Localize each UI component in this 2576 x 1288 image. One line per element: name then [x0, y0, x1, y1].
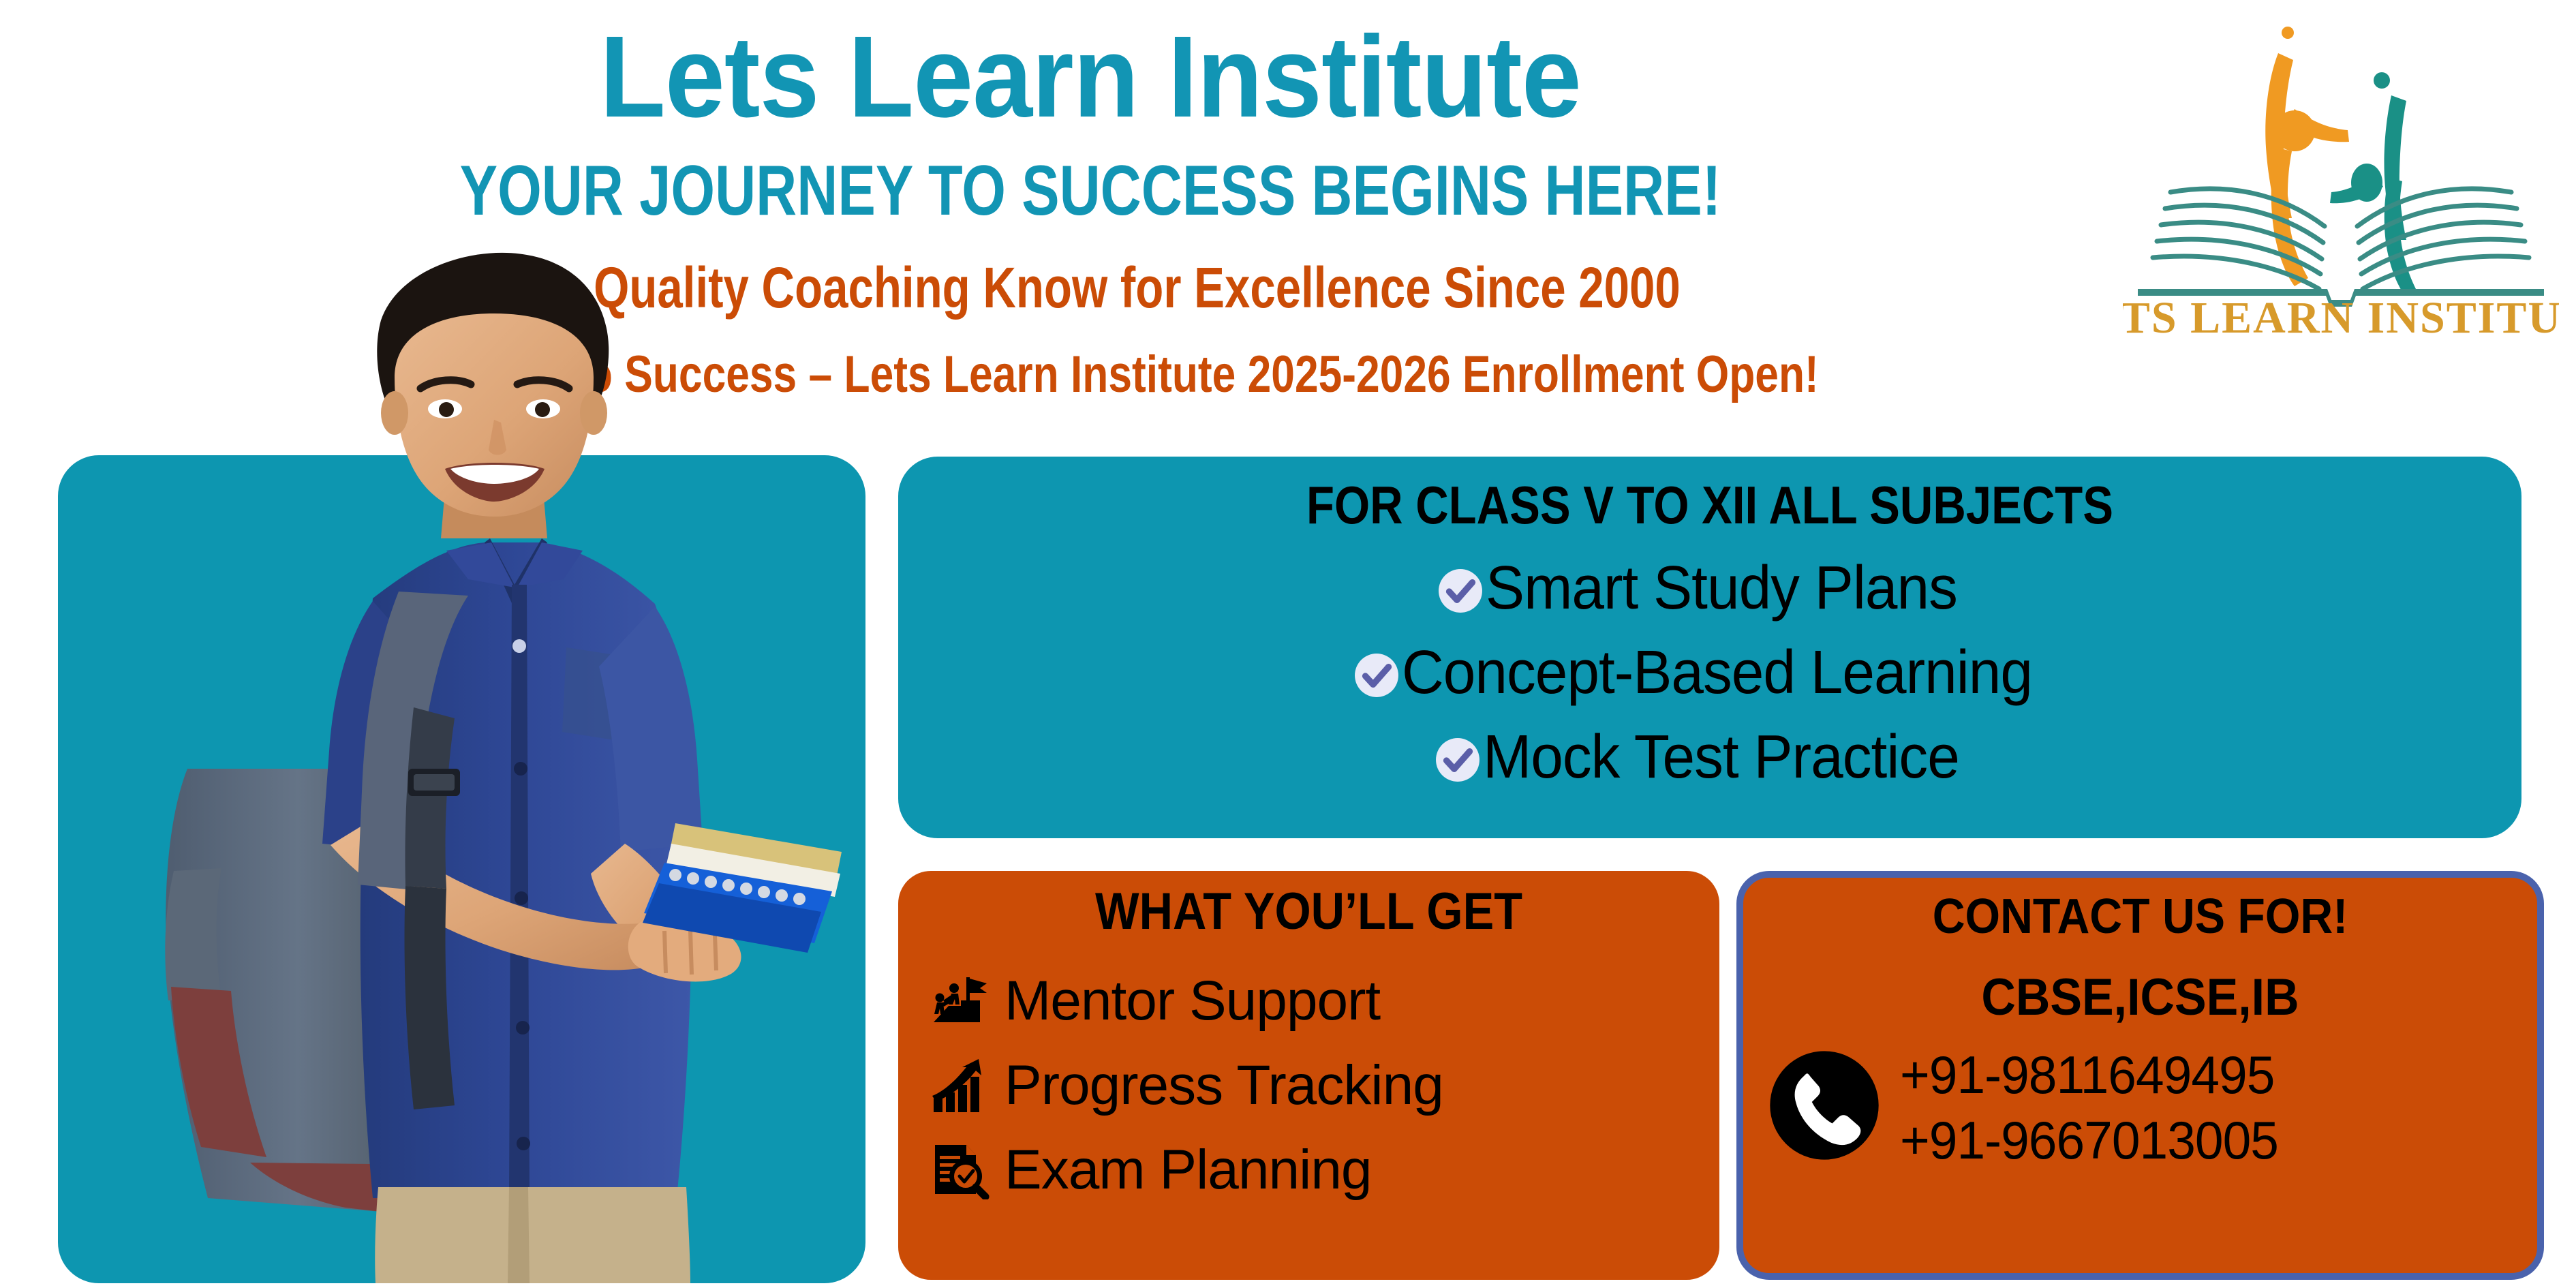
feature-item: Smart Study Plans — [898, 546, 2521, 630]
document-magnifier-check-icon — [931, 1141, 990, 1199]
feature-item-label: Smart Study Plans — [1486, 553, 1957, 624]
contact-boards-label: CBSE,ICSE,IB — [1775, 968, 2506, 1027]
benefit-item: Exam Planning — [931, 1128, 1719, 1212]
feature-box: FOR CLASS V TO XII ALL SUBJECTS Smart St… — [898, 457, 2521, 838]
logo-wordmark: LETS LEARN INSTITUTE — [2123, 293, 2559, 341]
promotional-banner: Lets Learn Institute YOUR JOURNEY TO SUC… — [0, 0, 2576, 1288]
phone-number[interactable]: +91-9811649495 — [1900, 1042, 2512, 1107]
benefits-box-title: WHAT YOU’LL GET — [939, 882, 1678, 941]
contact-box: CONTACT US FOR! CBSE,ICSE,IB +91-9811649… — [1736, 871, 2544, 1280]
feature-item-label: Concept-Based Learning — [1402, 638, 2032, 708]
student-photo — [106, 230, 876, 1283]
institute-logo: LETS LEARN INSTITUTE — [2123, 14, 2559, 341]
feature-list: Smart Study Plans Concept-Based Learning — [898, 546, 2521, 799]
benefit-item-label: Mentor Support — [1005, 969, 1380, 1033]
feature-item-label: Mock Test Practice — [1483, 722, 1959, 793]
mentor-climbing-to-flag-icon — [931, 972, 990, 1030]
benefit-item: Progress Tracking — [931, 1043, 1719, 1128]
tagline-journey: YOUR JOURNEY TO SUCCESS BEGINS HERE! — [447, 155, 1734, 226]
check-circle-icon — [1435, 737, 1480, 782]
contact-phone-rows: +91-9811649495 +91-9667013005 — [1743, 1042, 2537, 1173]
feature-box-title: FOR CLASS V TO XII ALL SUBJECTS — [1012, 474, 2408, 536]
benefits-box: WHAT YOU’LL GET — [898, 871, 1719, 1280]
check-circle-icon — [1438, 568, 1483, 613]
rising-bar-chart-arrow-icon — [931, 1056, 990, 1115]
feature-item: Concept-Based Learning — [898, 630, 2521, 715]
benefit-item-label: Progress Tracking — [1005, 1054, 1443, 1118]
feature-item: Mock Test Practice — [898, 715, 2521, 799]
check-circle-icon — [1354, 653, 1399, 698]
benefits-list: Mentor Support Progre — [898, 959, 1719, 1212]
phone-number[interactable]: +91-9667013005 — [1900, 1107, 2512, 1173]
benefit-item-label: Exam Planning — [1005, 1138, 1372, 1202]
student-photo-panel — [58, 455, 865, 1283]
phone-handset-icon — [1768, 1049, 1881, 1162]
benefit-item: Mentor Support — [931, 959, 1719, 1043]
page-title: Lets Learn Institute — [343, 19, 1839, 135]
contact-box-title: CONTACT US FOR! — [1775, 889, 2506, 945]
